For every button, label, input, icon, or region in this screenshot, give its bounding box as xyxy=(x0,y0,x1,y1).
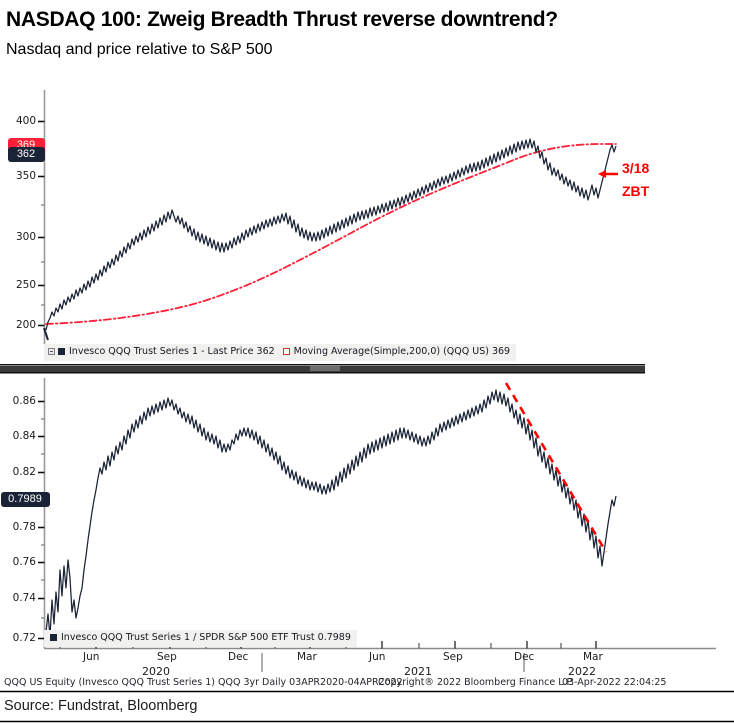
top-ytick-350: 350 xyxy=(2,170,36,182)
relative-series-legend-label: Invesco QQQ Trust Series 1 / SPDR S&P 50… xyxy=(61,632,351,643)
legend-expander-icon[interactable] xyxy=(48,348,55,355)
moving-average-line xyxy=(46,144,616,324)
bottom-ytick-078: 0.78 xyxy=(0,521,36,533)
annotation-zbt-label: ZBT xyxy=(622,183,649,199)
bottom-ytick-076: 0.76 xyxy=(0,556,36,568)
zbt-annotation-arrow xyxy=(598,170,618,178)
ma-series-swatch xyxy=(283,348,290,355)
status-bar-right: 03-Apr-2022 22:04:25 xyxy=(562,677,666,688)
bottom-panel-axes xyxy=(38,378,45,648)
relative-series-swatch xyxy=(50,634,57,641)
xtick-mar-2021: Mar xyxy=(297,651,317,663)
top-ytick-250: 250 xyxy=(2,279,36,291)
downtrend-line xyxy=(506,383,606,552)
top-panel-legend[interactable]: Invesco QQQ Trust Series 1 - Last Price … xyxy=(44,344,516,361)
xtick-jun-2020: Jun xyxy=(83,651,99,663)
bottom-ytick-084: 0.84 xyxy=(0,430,36,442)
status-bar-middle: Copyright® 2022 Bloomberg Finance L.P. xyxy=(378,677,574,688)
xtick-jun-2021: Jun xyxy=(369,651,385,663)
top-ytick-400: 400 xyxy=(2,115,36,127)
source-note: Source: Fundstrat, Bloomberg xyxy=(4,698,197,714)
bottom-ytick-086: 0.86 xyxy=(0,395,36,407)
top-ytick-200: 200 xyxy=(2,319,36,331)
top-panel-axes xyxy=(38,90,45,344)
xtick-sep-2021: Sep xyxy=(443,651,463,663)
last-price-tag: 362 xyxy=(8,147,45,162)
relative-value-tag: 0.7989 xyxy=(1,492,50,507)
price-line xyxy=(46,139,616,330)
price-series-swatch xyxy=(58,348,65,355)
bottom-ytick-072: 0.72 xyxy=(0,632,36,644)
chart-canvas xyxy=(0,0,734,723)
bottom-ytick-082: 0.82 xyxy=(0,466,36,478)
xtick-mar-2022: Mar xyxy=(583,651,603,663)
price-series-legend-label: Invesco QQQ Trust Series 1 - Last Price … xyxy=(69,346,275,357)
xtick-dec-2021: Dec xyxy=(514,651,534,663)
xtick-sep-2020: Sep xyxy=(157,651,177,663)
bottom-ytick-074: 0.74 xyxy=(0,592,36,604)
chart-page: NASDAQ 100: Zweig Breadth Thrust reverse… xyxy=(0,0,734,723)
relative-performance-line xyxy=(46,390,616,636)
annotation-zbt-date: 3/18 xyxy=(622,160,649,176)
xtick-dec-2020: Dec xyxy=(228,651,248,663)
bottom-panel-legend[interactable]: Invesco QQQ Trust Series 1 / SPDR S&P 50… xyxy=(44,630,357,647)
ma-series-legend-label: Moving Average(Simple,200,0) (QQQ US) 36… xyxy=(294,346,510,357)
top-ytick-300: 300 xyxy=(2,231,36,243)
status-bar-left: QQQ US Equity (Invesco QQQ Trust Series … xyxy=(4,677,403,688)
